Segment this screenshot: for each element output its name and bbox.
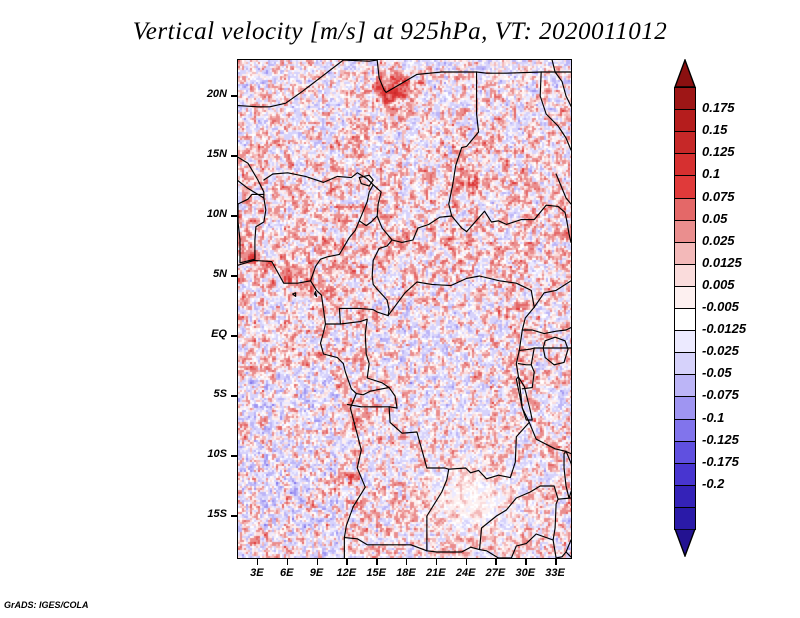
colorbar-tick-label: 0.175 — [702, 100, 735, 115]
border-line — [518, 348, 534, 365]
lon-tick — [376, 559, 378, 565]
border-line — [389, 307, 534, 479]
lon-tick — [466, 559, 468, 565]
lon-tick — [525, 559, 527, 565]
border-line — [516, 377, 532, 420]
border-line — [449, 132, 479, 232]
lon-tick — [495, 559, 497, 565]
colorbar-segment — [674, 396, 696, 419]
border-line — [388, 276, 534, 316]
border-line — [343, 60, 377, 61]
border-line — [347, 404, 390, 406]
border-line — [344, 538, 479, 552]
colorbar-tick-label: -0.125 — [702, 432, 739, 447]
colorbar-tick-label: 0.05 — [702, 211, 727, 226]
page-title: Vertical velocity [m/s] at 925hPa, VT: 2… — [0, 18, 800, 46]
lat-label: 20N — [189, 88, 227, 100]
colorbar-segment — [674, 286, 696, 309]
lat-tick — [231, 335, 237, 337]
border-line — [427, 469, 449, 551]
border-line — [255, 198, 266, 259]
map-plot-area — [237, 59, 572, 559]
border-line — [480, 550, 499, 558]
border-line — [373, 185, 452, 243]
border-line — [543, 337, 568, 365]
border-line — [359, 175, 373, 186]
lon-label: 33E — [535, 567, 575, 579]
border-line — [477, 72, 571, 73]
colorbar-tick-label: 0.15 — [702, 122, 727, 137]
border-line — [238, 260, 311, 283]
border-line — [321, 324, 357, 394]
border-line — [340, 319, 397, 408]
country-borders-overlay — [238, 60, 571, 558]
lat-label: 10N — [189, 208, 227, 220]
colorbar-tick-label: -0.005 — [702, 299, 739, 314]
border-line — [359, 216, 377, 226]
border-line — [344, 394, 365, 558]
colorbar-tick-label: 0.005 — [702, 277, 735, 292]
lat-tick — [231, 455, 237, 457]
border-line — [467, 205, 571, 242]
colorbar-segment — [674, 330, 696, 353]
lat-tick — [231, 395, 237, 397]
border-line — [238, 157, 264, 198]
border-line — [480, 486, 559, 558]
border-line — [264, 173, 367, 183]
lat-label: 5N — [189, 268, 227, 280]
border-line — [556, 552, 566, 558]
lon-tick — [346, 559, 348, 565]
lat-tick — [231, 155, 237, 157]
colorbar-tick-label: -0.1 — [702, 410, 724, 425]
border-line — [552, 60, 571, 108]
colorbar-tick-label: -0.075 — [702, 387, 739, 402]
colorbar-segment — [674, 242, 696, 265]
lat-tick — [231, 215, 237, 217]
border-line — [325, 308, 340, 324]
colorbar-tick-label: 0.1 — [702, 166, 720, 181]
border-line — [522, 328, 571, 334]
colorbar-segment — [674, 308, 696, 331]
colorbar-arrow-bottom — [674, 529, 696, 557]
lat-label: 15N — [189, 148, 227, 160]
colorbar-segment — [674, 175, 696, 198]
colorbar — [674, 59, 696, 557]
colorbar-segment — [674, 374, 696, 397]
colorbar-tick-label: 0.075 — [702, 189, 735, 204]
colorbar-segment — [674, 87, 696, 110]
colorbar-arrow-top — [674, 59, 696, 87]
border-line — [315, 292, 317, 297]
lat-label: 10S — [189, 448, 227, 460]
lon-tick — [317, 559, 319, 565]
colorbar-segment — [674, 507, 696, 530]
colorbar-tick-label: -0.0125 — [702, 321, 746, 336]
colorbar-segment — [674, 485, 696, 508]
colorbar-tick-label: -0.05 — [702, 365, 732, 380]
colorbar-segment — [674, 419, 696, 442]
colorbar-segment — [674, 131, 696, 154]
border-line — [311, 281, 326, 324]
colorbar-segment — [674, 264, 696, 287]
colorbar-segment — [674, 198, 696, 221]
lat-tick — [231, 95, 237, 97]
colorbar-segment — [674, 463, 696, 486]
border-line — [477, 72, 479, 132]
colorbar-segment — [674, 352, 696, 375]
border-line — [293, 293, 296, 297]
lat-label: EQ — [189, 328, 227, 340]
colorbar-segment — [674, 441, 696, 464]
border-line — [566, 540, 571, 558]
lon-tick — [555, 559, 557, 565]
grads-plot-root: Vertical velocity [m/s] at 925hPa, VT: 2… — [0, 0, 800, 618]
border-line — [498, 534, 553, 558]
colorbar-tick-label: -0.175 — [702, 454, 739, 469]
border-line — [377, 60, 476, 92]
colorbar-tick-label: -0.025 — [702, 343, 739, 358]
credit-text: GrADS: IGES/COLA — [4, 600, 89, 610]
lat-label: 5S — [189, 388, 227, 400]
lon-tick — [436, 559, 438, 565]
colorbar-tick-label: 0.125 — [702, 144, 735, 159]
border-line — [372, 240, 392, 316]
border-line — [540, 72, 571, 150]
border-line — [356, 388, 389, 395]
border-line — [339, 308, 388, 315]
border-line — [534, 281, 571, 307]
border-line — [529, 422, 571, 453]
lat-label: 15S — [189, 508, 227, 520]
border-line — [238, 60, 343, 107]
colorbar-tick-label: -0.2 — [702, 476, 724, 491]
colorbar-segment — [674, 153, 696, 176]
border-line — [564, 451, 571, 498]
lat-tick — [231, 275, 237, 277]
border-line — [238, 204, 240, 263]
border-line — [556, 174, 571, 204]
colorbar-tick-label: 0.0125 — [702, 255, 742, 270]
colorbar-tick-label: 0.025 — [702, 233, 735, 248]
border-line — [311, 179, 374, 281]
lon-tick — [257, 559, 259, 565]
colorbar-segment — [674, 220, 696, 243]
lat-tick — [231, 515, 237, 517]
lon-tick — [406, 559, 408, 565]
lon-tick — [287, 559, 289, 565]
colorbar-segment — [674, 109, 696, 132]
